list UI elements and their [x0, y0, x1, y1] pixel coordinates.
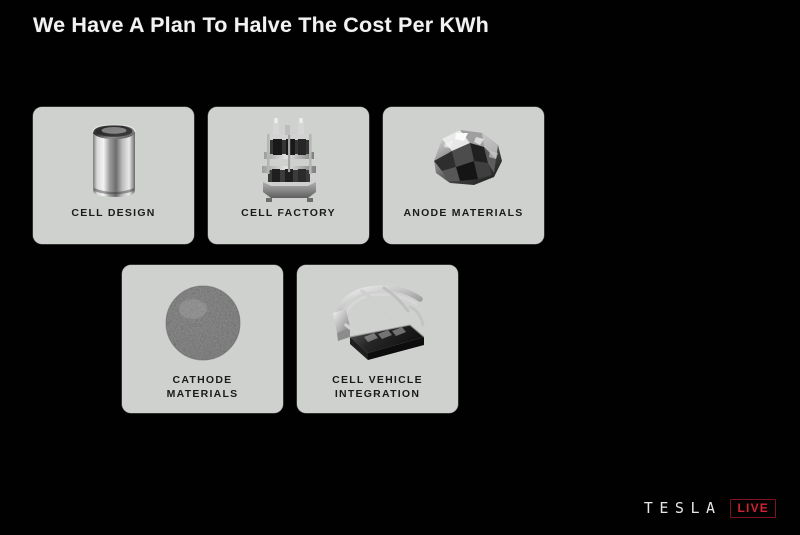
card-label: CELL DESIGN: [65, 206, 161, 220]
granular-sphere-icon: [144, 275, 262, 371]
battery-cell-icon: [55, 118, 173, 202]
card-cell-factory[interactable]: CELL FACTORY: [208, 107, 369, 244]
card-label: ANODE MATERIALS: [397, 206, 529, 220]
card-cathode-materials[interactable]: CATHODE MATERIALS: [122, 265, 283, 413]
presentation-slide: We Have A Plan To Halve The Cost Per KWh: [0, 0, 800, 535]
live-badge: LIVE: [730, 499, 776, 518]
card-row-1: CELL DESIGN: [33, 107, 544, 244]
tesla-wordmark: TESLA: [642, 501, 722, 516]
page-title: We Have A Plan To Halve The Cost Per KWh: [33, 13, 489, 38]
factory-machine-icon: [230, 118, 348, 202]
card-label: CATHODE MATERIALS: [161, 373, 245, 401]
card-row-2: CATHODE MATERIALS: [122, 265, 458, 413]
vehicle-chassis-icon: [319, 275, 437, 371]
card-cell-design[interactable]: CELL DESIGN: [33, 107, 194, 244]
card-label: CELL VEHICLE INTEGRATION: [326, 373, 429, 401]
mineral-rock-icon: [405, 118, 523, 202]
card-cell-vehicle-integration[interactable]: CELL VEHICLE INTEGRATION: [297, 265, 458, 413]
tesla-live-logo: TESLA LIVE: [642, 499, 776, 518]
card-anode-materials[interactable]: ANODE MATERIALS: [383, 107, 544, 244]
card-label: CELL FACTORY: [235, 206, 342, 220]
